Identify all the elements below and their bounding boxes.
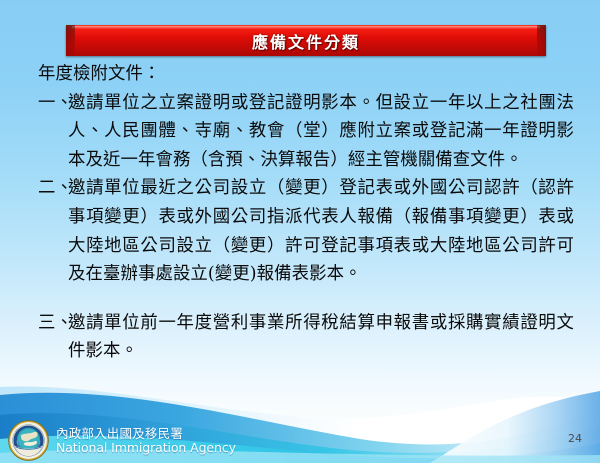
list-item-marker: 一、 — [38, 89, 73, 118]
title-banner: 應備文件分類 — [66, 25, 546, 56]
agency-name-zh: 內政部入出國及移民署 — [56, 427, 236, 441]
list-item-text: 邀請單位之立案證明或登記證明影本。但設立一年以上之社團法人、人民團體、寺廟、教會… — [68, 89, 574, 175]
slide-canvas: 應備文件分類 年度檢附文件： 一、 邀請單位之立案證明或登記證明影本。但設立一年… — [0, 0, 600, 463]
list-item-marker: 三、 — [38, 309, 73, 338]
page-number: 24 — [568, 432, 582, 445]
list-item: 一、 邀請單位之立案證明或登記證明影本。但設立一年以上之社團法人、人民團體、寺廟… — [34, 89, 574, 175]
agency-emblem-icon — [8, 420, 49, 461]
list-item-marker: 二、 — [38, 174, 73, 203]
agency-name: 內政部入出國及移民署 National Immigration Agency — [56, 427, 236, 454]
page-title: 應備文件分類 — [66, 25, 546, 56]
list-item-text: 邀請單位前一年度營利事業所得稅結算申報書或採購實績證明文件影本。 — [68, 309, 574, 366]
agency-name-en: National Immigration Agency — [56, 441, 236, 455]
footer-branding: 內政部入出國及移民署 National Immigration Agency — [8, 420, 236, 461]
list-item: 三、 邀請單位前一年度營利事業所得稅結算申報書或採購實績證明文件影本。 — [34, 309, 574, 366]
content-body: 年度檢附文件： 一、 邀請單位之立案證明或登記證明影本。但設立一年以上之社團法人… — [34, 60, 574, 366]
list-item-text: 邀請單位最近之公司設立（變更）登記表或外國公司認許（認許事項變更）表或外國公司指… — [68, 174, 574, 288]
lead-text: 年度檢附文件： — [38, 60, 574, 89]
list-item: 二、 邀請單位最近之公司設立（變更）登記表或外國公司認許（認許事項變更）表或外國… — [34, 174, 574, 288]
